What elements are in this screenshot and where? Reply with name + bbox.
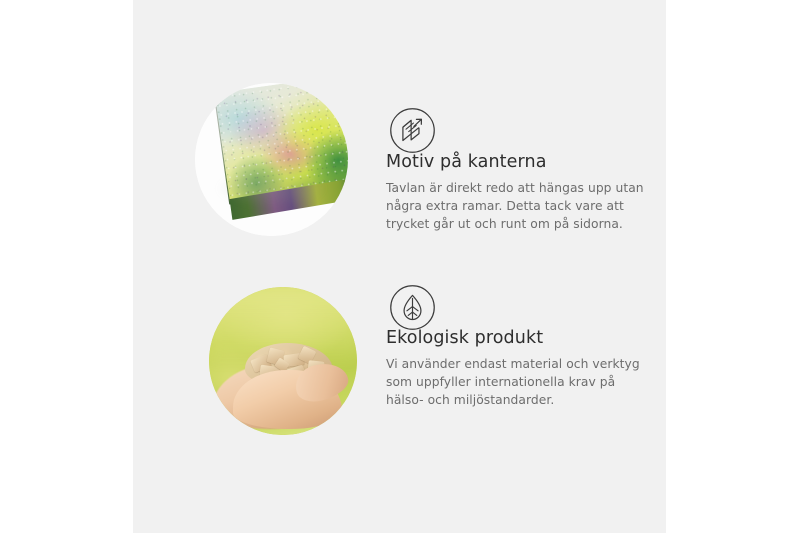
feature-description: Tavlan är direkt redo att hängas upp uta…: [386, 180, 656, 233]
content-panel: Motiv på kanterna Tavlan är direkt redo …: [133, 0, 666, 533]
canvas-wrapped-edges-icon: [389, 107, 436, 154]
product-feature-banner: Motiv på kanterna Tavlan är direkt redo …: [0, 0, 800, 533]
leaf-icon: [389, 284, 436, 331]
meadow-background: [209, 287, 357, 435]
hands-holding-wood-chips-photo: [209, 287, 357, 435]
feature-text-block: Motiv på kanterna Tavlan är direkt redo …: [386, 152, 656, 233]
canvas-print-object: [215, 83, 348, 232]
feature-block-ekologisk-produkt: Ekologisk produkt Vi använder endast mat…: [133, 266, 666, 533]
canvas-bottom-edge: [230, 174, 348, 219]
photo-backdrop: [195, 83, 348, 236]
feature-description: Vi använder endast material och verktyg …: [386, 356, 656, 409]
feature-block-motiv-pa-kanterna: Motiv på kanterna Tavlan är direkt redo …: [133, 0, 666, 266]
canvas-print-corner-photo: [195, 83, 348, 236]
feature-title: Ekologisk produkt: [386, 328, 656, 349]
feature-text-block: Ekologisk produkt Vi använder endast mat…: [386, 328, 656, 409]
feature-title: Motiv på kanterna: [386, 152, 656, 173]
